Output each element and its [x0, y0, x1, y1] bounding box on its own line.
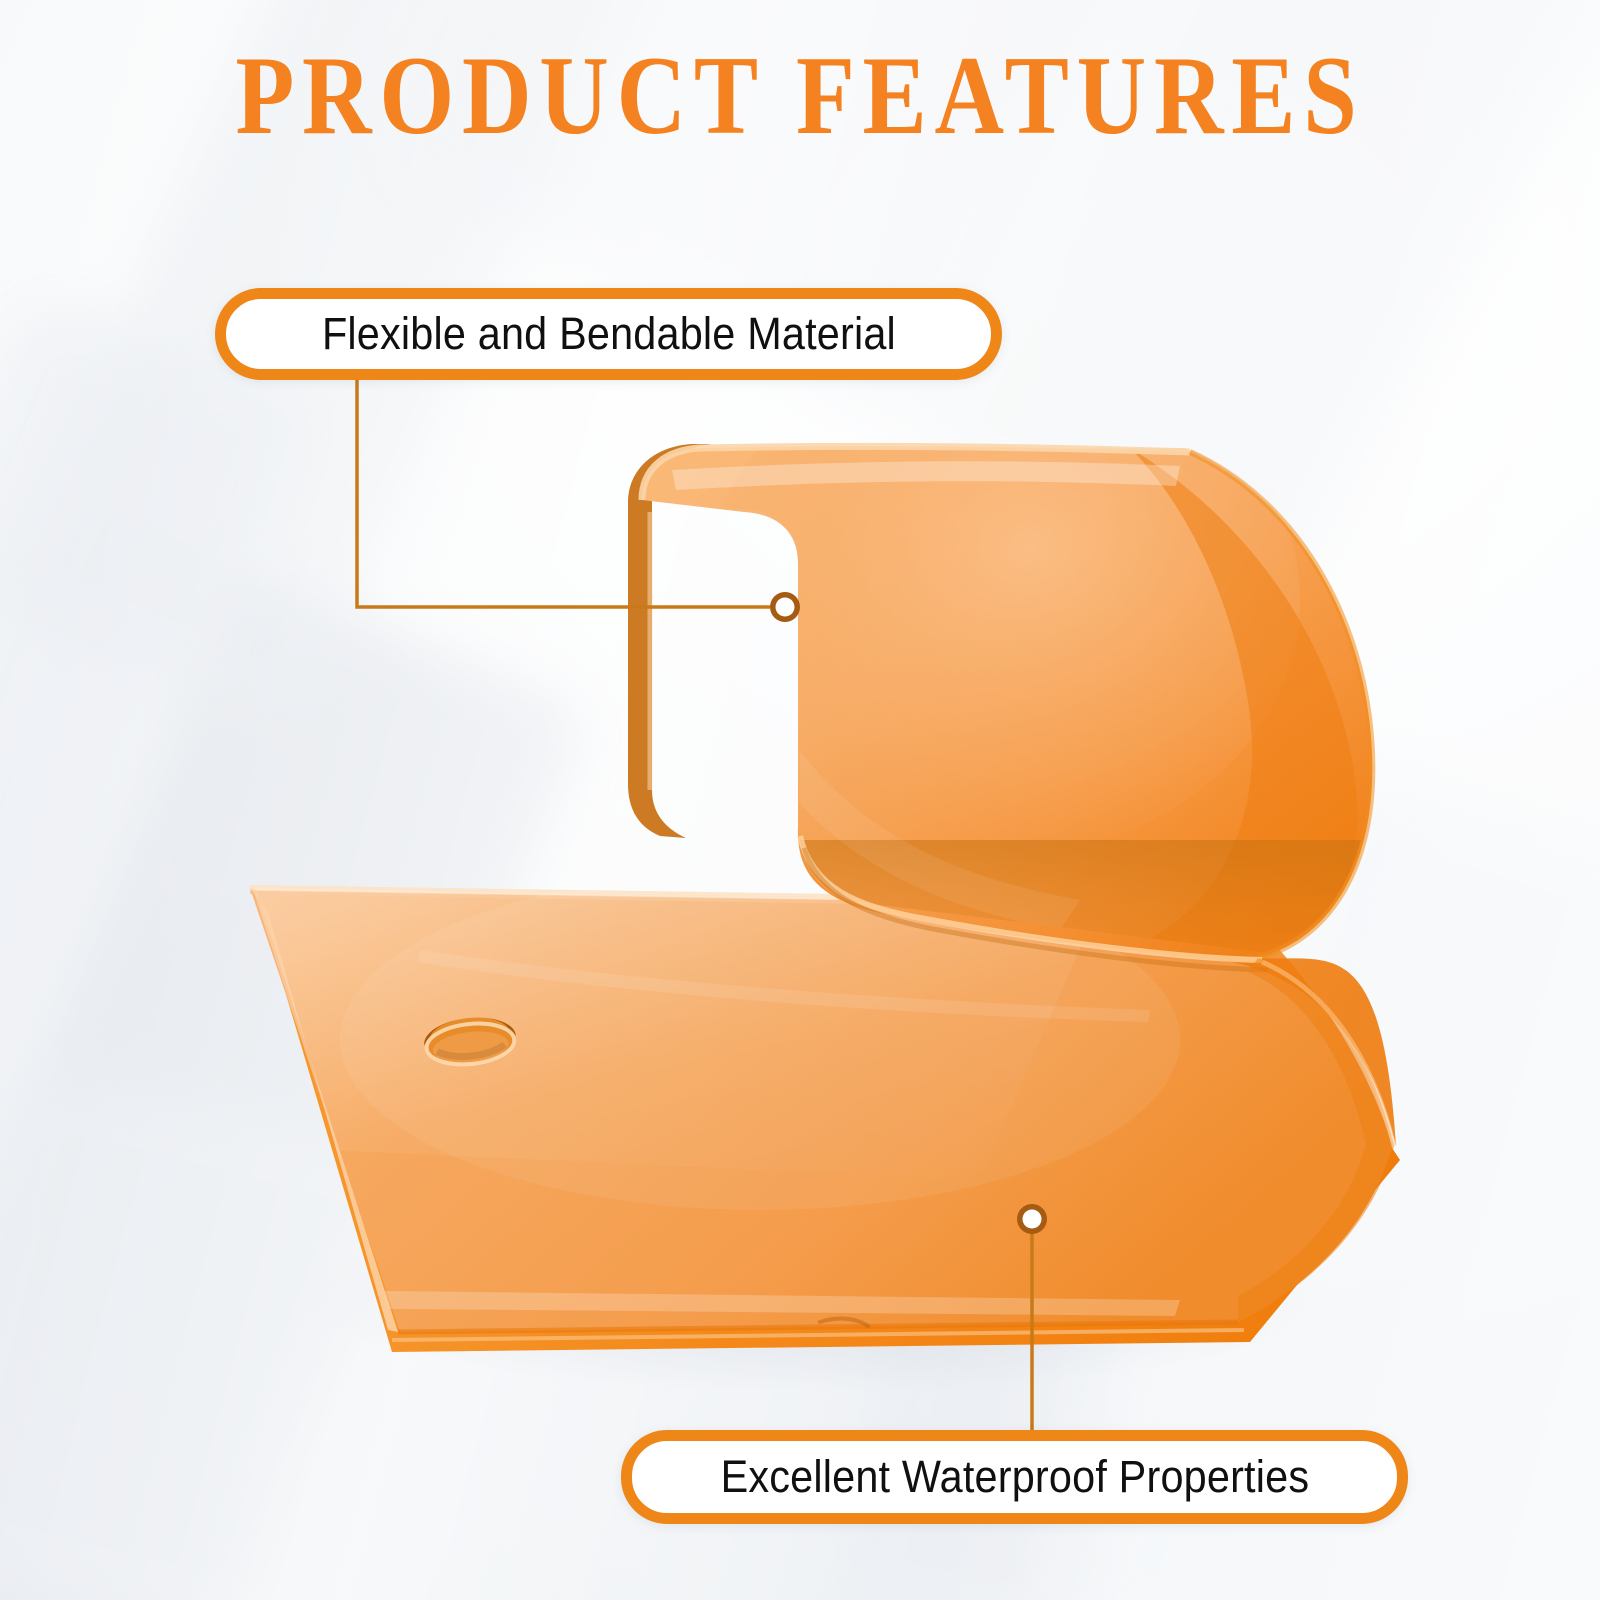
- callout-waterproof-label: Excellent Waterproof Properties: [720, 1451, 1309, 1503]
- marker-flexible-bendable: [770, 592, 800, 622]
- leader-line-top: [357, 380, 770, 607]
- callout-flexible-bendable-label: Flexible and Bendable Material: [322, 308, 896, 360]
- callout-leader-lines: [0, 0, 1600, 1600]
- infographic-canvas: PRODUCT FEATURES: [0, 0, 1600, 1600]
- callout-flexible-bendable[interactable]: Flexible and Bendable Material: [215, 288, 1002, 380]
- marker-waterproof: [1017, 1204, 1047, 1234]
- callout-waterproof[interactable]: Excellent Waterproof Properties: [621, 1430, 1408, 1524]
